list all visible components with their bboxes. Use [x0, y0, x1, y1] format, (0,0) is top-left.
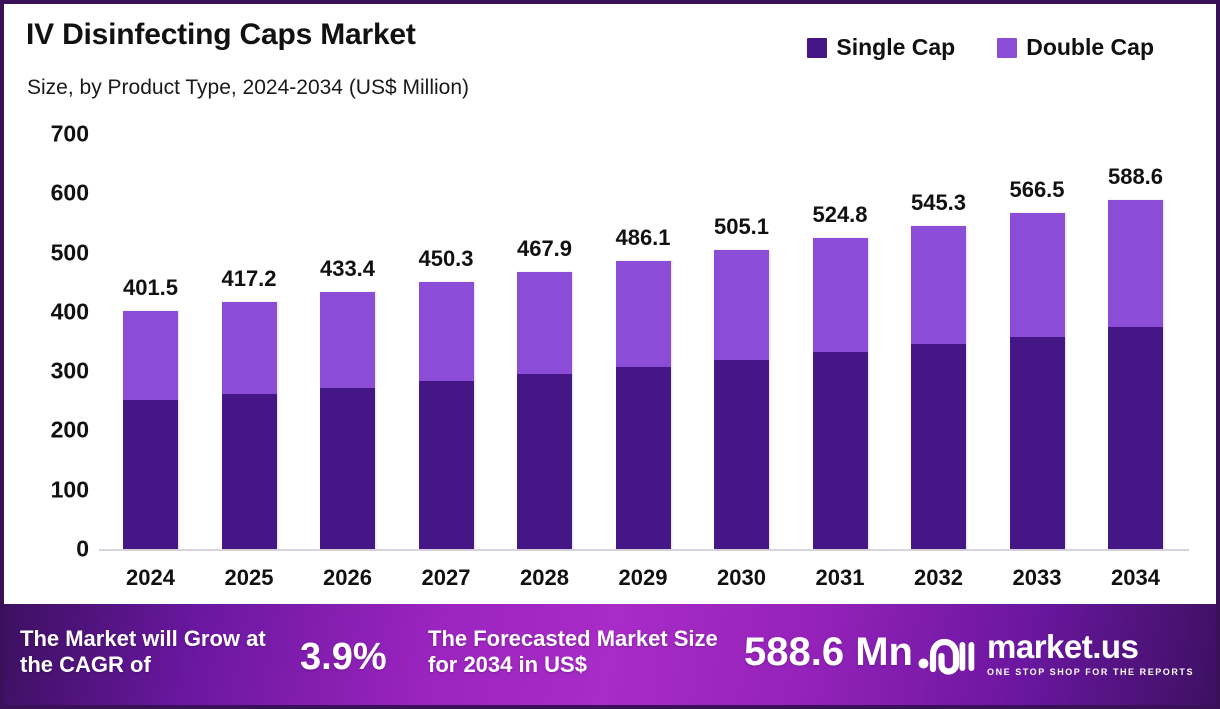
x-axis-tick-2033: 2033: [1013, 565, 1062, 591]
x-axis-tick-2030: 2030: [717, 565, 766, 591]
x-axis-tick-2025: 2025: [225, 565, 274, 591]
bar-segment-single-cap[interactable]: [1010, 337, 1065, 549]
bar-group-2034[interactable]: 588.62034: [1108, 4, 1163, 549]
y-axis-tick-1: 100: [51, 476, 89, 503]
bar-segment-single-cap[interactable]: [123, 400, 178, 549]
bar-segment-single-cap[interactable]: [714, 360, 769, 549]
footer-banner: The Market will Grow at the CAGR of 3.9%…: [4, 604, 1216, 705]
bar-group-2025[interactable]: 417.22025: [222, 4, 277, 549]
bar-segment-double-cap[interactable]: [1108, 200, 1163, 327]
chart-infographic: IV Disinfecting Caps Market Size, by Pro…: [0, 0, 1220, 709]
bar-segment-single-cap[interactable]: [616, 367, 671, 549]
x-axis-tick-2034: 2034: [1111, 565, 1160, 591]
x-axis-tick-2032: 2032: [914, 565, 963, 591]
market-us-logo-icon: [917, 631, 977, 677]
y-axis-tick-3: 300: [51, 358, 89, 385]
bar-segment-single-cap[interactable]: [813, 352, 868, 549]
bar-group-2028[interactable]: 467.92028: [517, 4, 572, 549]
bar-stack[interactable]: [616, 261, 671, 549]
bar-segment-double-cap[interactable]: [123, 311, 178, 400]
bar-stack[interactable]: [911, 226, 966, 549]
bar-value-label: 401.5: [123, 275, 178, 301]
bar-value-label: 417.2: [221, 266, 276, 292]
footer-size-value: 588.6 Mn: [744, 629, 913, 676]
x-axis-tick-2031: 2031: [816, 565, 865, 591]
bar-segment-double-cap[interactable]: [419, 282, 474, 381]
bar-stack[interactable]: [222, 302, 277, 549]
bar-segment-single-cap[interactable]: [911, 344, 966, 549]
bar-stack[interactable]: [320, 292, 375, 549]
bar-value-label: 545.3: [911, 190, 966, 216]
bar-group-2030[interactable]: 505.12030: [714, 4, 769, 549]
y-axis-tick-0: 0: [76, 536, 89, 563]
y-axis-tick-5: 500: [51, 239, 89, 266]
bar-value-label: 467.9: [517, 236, 572, 262]
bar-stack[interactable]: [1010, 213, 1065, 549]
bar-group-2024[interactable]: 401.52024: [123, 4, 178, 549]
y-axis-tick-4: 400: [51, 298, 89, 325]
bar-value-label: 450.3: [418, 246, 473, 272]
bar-segment-double-cap[interactable]: [813, 238, 868, 352]
brand-name: market.us: [987, 630, 1194, 663]
bar-value-label: 524.8: [812, 202, 867, 228]
y-axis-labels: 0100200300400500600700: [4, 4, 99, 604]
bar-series-container: 401.52024417.22025433.42026450.32027467.…: [99, 4, 1189, 604]
bar-segment-single-cap[interactable]: [222, 394, 277, 549]
bar-value-label: 588.6: [1108, 164, 1163, 190]
bar-segment-single-cap[interactable]: [517, 374, 572, 549]
bar-segment-double-cap[interactable]: [714, 250, 769, 360]
y-axis-tick-7: 700: [51, 121, 89, 148]
bar-group-2029[interactable]: 486.12029: [616, 4, 671, 549]
bar-segment-double-cap[interactable]: [320, 292, 375, 388]
brand-tagline: ONE STOP SHOP FOR THE REPORTS: [987, 667, 1194, 677]
bar-group-2027[interactable]: 450.32027: [419, 4, 474, 549]
bar-group-2033[interactable]: 566.52033: [1010, 4, 1065, 549]
bar-segment-double-cap[interactable]: [911, 226, 966, 345]
bar-stack[interactable]: [714, 250, 769, 549]
footer-cagr-value: 3.9%: [300, 635, 387, 680]
bar-group-2031[interactable]: 524.82031: [813, 4, 868, 549]
y-axis-tick-6: 600: [51, 180, 89, 207]
x-axis-tick-2028: 2028: [520, 565, 569, 591]
bar-value-label: 433.4: [320, 256, 375, 282]
x-axis-tick-2029: 2029: [619, 565, 668, 591]
footer-cagr-label: The Market will Grow at the CAGR of: [20, 626, 300, 678]
bar-stack[interactable]: [813, 238, 868, 549]
bar-segment-double-cap[interactable]: [222, 302, 277, 395]
bar-value-label: 505.1: [714, 214, 769, 240]
bar-segment-single-cap[interactable]: [320, 388, 375, 549]
bar-stack[interactable]: [1108, 200, 1163, 549]
bar-segment-double-cap[interactable]: [616, 261, 671, 367]
bar-value-label: 486.1: [615, 225, 670, 251]
bar-segment-double-cap[interactable]: [1010, 213, 1065, 337]
bar-segment-single-cap[interactable]: [1108, 327, 1163, 549]
bar-segment-single-cap[interactable]: [419, 381, 474, 549]
x-axis-tick-2027: 2027: [422, 565, 471, 591]
bar-stack[interactable]: [517, 272, 572, 549]
bar-group-2032[interactable]: 545.32032: [911, 4, 966, 549]
bar-group-2026[interactable]: 433.42026: [320, 4, 375, 549]
x-axis-tick-2024: 2024: [126, 565, 175, 591]
footer-size-label: The Forecasted Market Size for 2034 in U…: [428, 626, 738, 678]
x-axis-tick-2026: 2026: [323, 565, 372, 591]
bar-value-label: 566.5: [1009, 177, 1064, 203]
plot-area: 0100200300400500600700 401.52024417.2202…: [4, 4, 1220, 604]
brand-logo: market.us ONE STOP SHOP FOR THE REPORTS: [917, 630, 1194, 677]
y-axis-tick-2: 200: [51, 417, 89, 444]
bar-stack[interactable]: [123, 311, 178, 549]
bar-segment-double-cap[interactable]: [517, 272, 572, 375]
bar-stack[interactable]: [419, 282, 474, 549]
